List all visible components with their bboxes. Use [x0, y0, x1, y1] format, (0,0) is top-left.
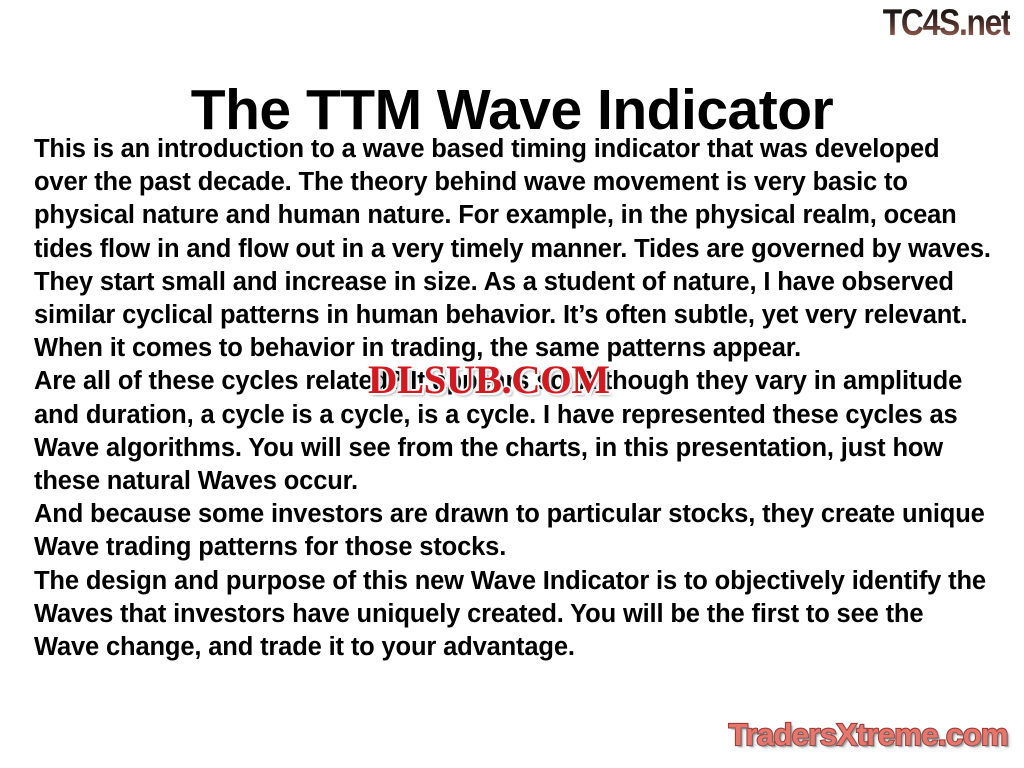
tc4s-brand-logo: TC4S.net	[882, 4, 1010, 41]
paragraph: This is an introduction to a wave based …	[34, 133, 992, 365]
paragraph: And because some investors are drawn to …	[34, 498, 992, 564]
tradersxtreme-brand-logo: TradersXtreme.com	[729, 718, 1008, 752]
paragraph: The design and purpose of this new Wave …	[34, 565, 992, 665]
presentation-slide: TC4S.net The TTM Wave Indicator This is …	[0, 0, 1024, 768]
page-title: The TTM Wave Indicator	[0, 79, 1024, 141]
dlsub-watermark: DLSUB.COM	[368, 360, 609, 400]
